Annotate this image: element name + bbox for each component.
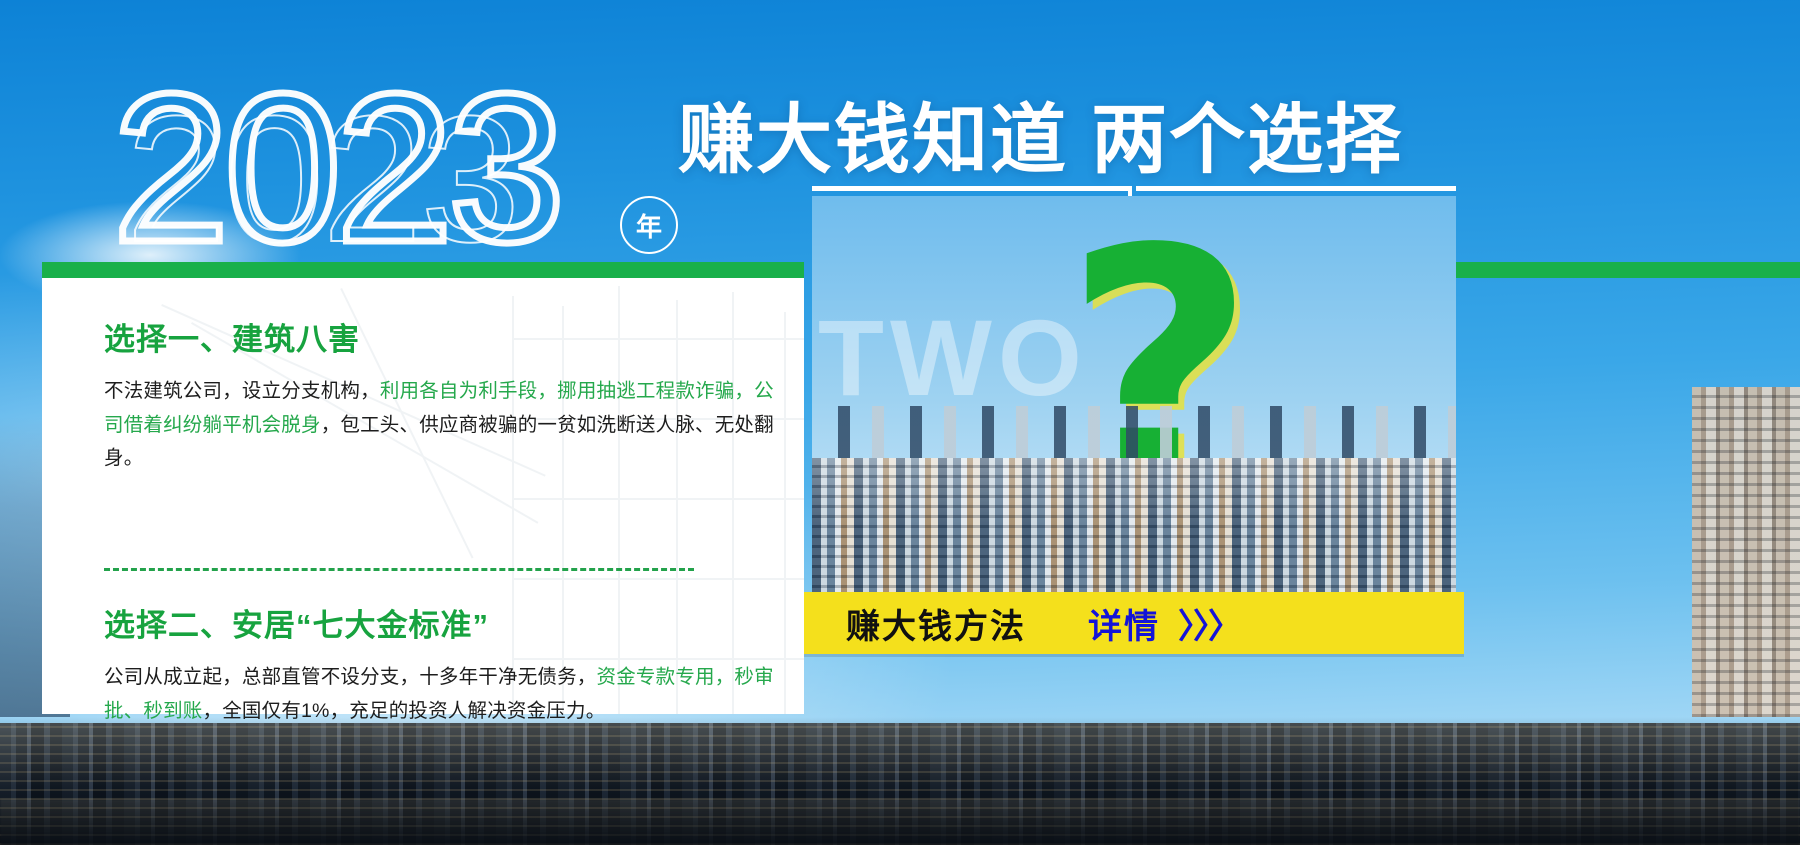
- section-one-body-part1: 不法建筑公司，设立分支机构，: [104, 380, 380, 402]
- cta-detail-link[interactable]: 详情: [1088, 599, 1160, 648]
- green-accent-bar-right: [1456, 262, 1800, 278]
- bottom-photo-band: [0, 717, 1800, 845]
- cta-banner[interactable]: 赚大钱方法 详情 〉〉〉: [804, 592, 1464, 654]
- page-title: 赚大钱知道 两个选择: [678, 78, 1403, 188]
- section-one: 选择一、建筑八害 不法建筑公司，设立分支机构，利用各自为利手段，挪用抽逃工程款诈…: [104, 314, 776, 476]
- section-two-title: 选择二、安居“七大金标准”: [104, 600, 776, 645]
- content-card: 选择一、建筑八害 不法建筑公司，设立分支机构，利用各自为利手段，挪用抽逃工程款诈…: [42, 262, 804, 714]
- year-unit-badge: 年: [620, 196, 678, 254]
- section-two: 选择二、安居“七大金标准” 公司从成立起，总部直管不设分支，十多年干净无债务，资…: [104, 600, 776, 728]
- poster-canvas: 2023 2023 年 赚大钱知道 两个选择 TWO CHOICES ? 赚大钱…: [0, 0, 1800, 845]
- section-one-title: 选择一、建筑八害: [104, 314, 776, 359]
- water-reflection: [0, 799, 1800, 845]
- cta-main-label: 赚大钱方法: [846, 599, 1026, 648]
- skyline-upper: [812, 406, 1456, 458]
- right-photo-panel: TWO CHOICES ?: [812, 196, 1456, 648]
- watermark-line-1: TWO: [818, 297, 1088, 418]
- headline-rule-left: [812, 186, 1130, 191]
- section-two-body-part1: 公司从成立起，总部直管不设分支，十多年干净无债务，: [104, 666, 597, 688]
- right-building-photo: [1692, 387, 1800, 717]
- section-one-body: 不法建筑公司，设立分支机构，利用各自为利手段，挪用抽逃工程款诈骗，公司借着纠纷躺…: [104, 375, 776, 476]
- headline-rule-right: [1136, 186, 1456, 191]
- chevron-right-icon: 〉〉〉: [1178, 599, 1240, 648]
- section-divider: [104, 568, 694, 571]
- card-green-topbar: [42, 262, 804, 278]
